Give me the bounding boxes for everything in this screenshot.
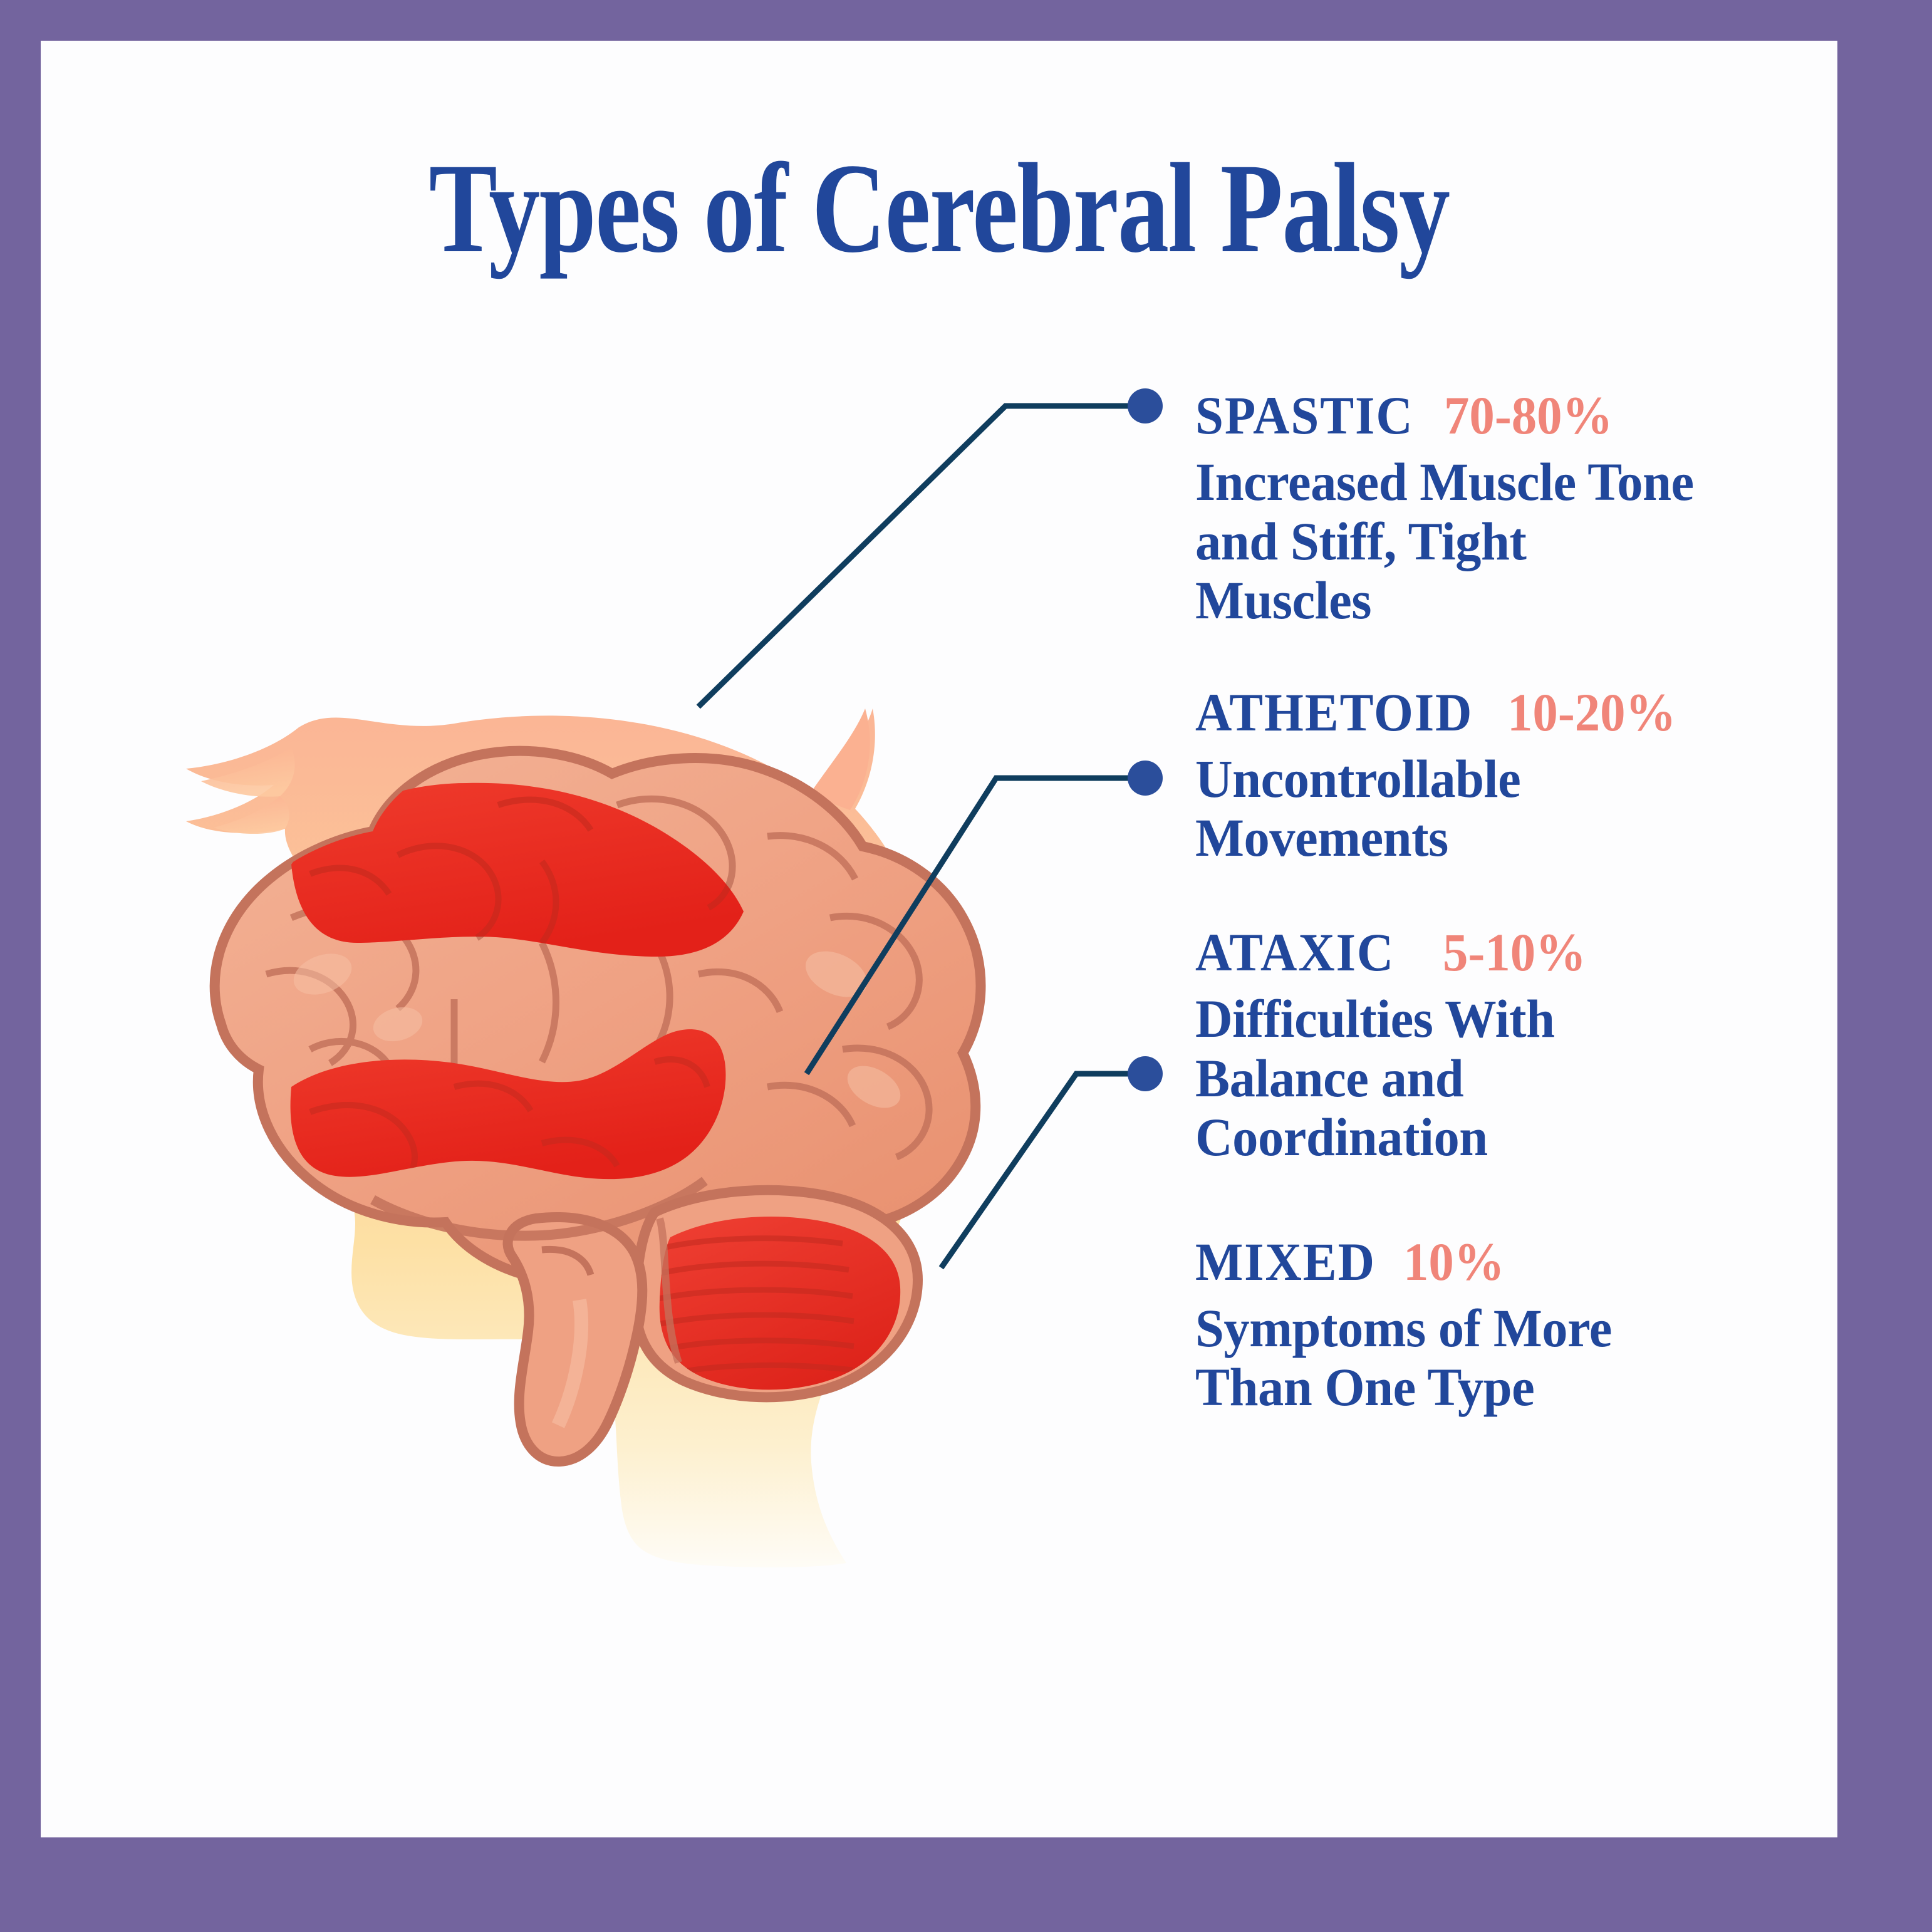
legend-description: Uncontrollable Movements: [1195, 749, 1695, 868]
brain-body: [215, 751, 981, 1462]
legend-type-name: MIXED: [1195, 1235, 1376, 1289]
legend-list: SPASTIC70-80% Increased Muscle Tone and …: [1195, 388, 1822, 1417]
legend-heading: ATAXIC5-10%: [1195, 925, 1822, 979]
legend-percent: 10%: [1403, 1235, 1505, 1289]
legend-type-name: ATHETOID: [1195, 685, 1473, 739]
legend-type-name: SPASTIC: [1195, 388, 1414, 442]
page-title: Types of Cerebral Palsy: [221, 135, 1658, 283]
legend-item-mixed[interactable]: MIXED10% Symptoms of More Than One Type: [1195, 1235, 1822, 1417]
legend-description: Increased Muscle Tone and Stiff, Tight M…: [1195, 452, 1695, 630]
legend-heading: MIXED10%: [1195, 1235, 1822, 1289]
legend-heading: SPASTIC70-80%: [1195, 388, 1822, 442]
legend-description: Difficulties With Balance and Coordinati…: [1195, 989, 1695, 1167]
infographic-canvas: Types of Cerebral Palsy: [41, 41, 1837, 1837]
legend-type-name: ATAXIC: [1195, 925, 1394, 979]
bullet-dot-spastic: [1128, 388, 1163, 423]
cerebellum-region: [635, 1190, 918, 1398]
legend-percent: 10-20%: [1507, 685, 1676, 739]
brain-illustration: [103, 648, 1168, 1713]
legend-heading: ATHETOID10-20%: [1195, 685, 1822, 739]
legend-description: Symptoms of More Than One Type: [1195, 1299, 1695, 1417]
legend-percent: 70-80%: [1444, 388, 1613, 442]
legend-percent: 5-10%: [1443, 925, 1586, 979]
legend-item-spastic[interactable]: SPASTIC70-80% Increased Muscle Tone and …: [1195, 388, 1822, 630]
legend-item-ataxic[interactable]: ATAXIC5-10% Difficulties With Balance an…: [1195, 925, 1822, 1167]
legend-item-athetoid[interactable]: ATHETOID10-20% Uncontrollable Movements: [1195, 685, 1822, 868]
